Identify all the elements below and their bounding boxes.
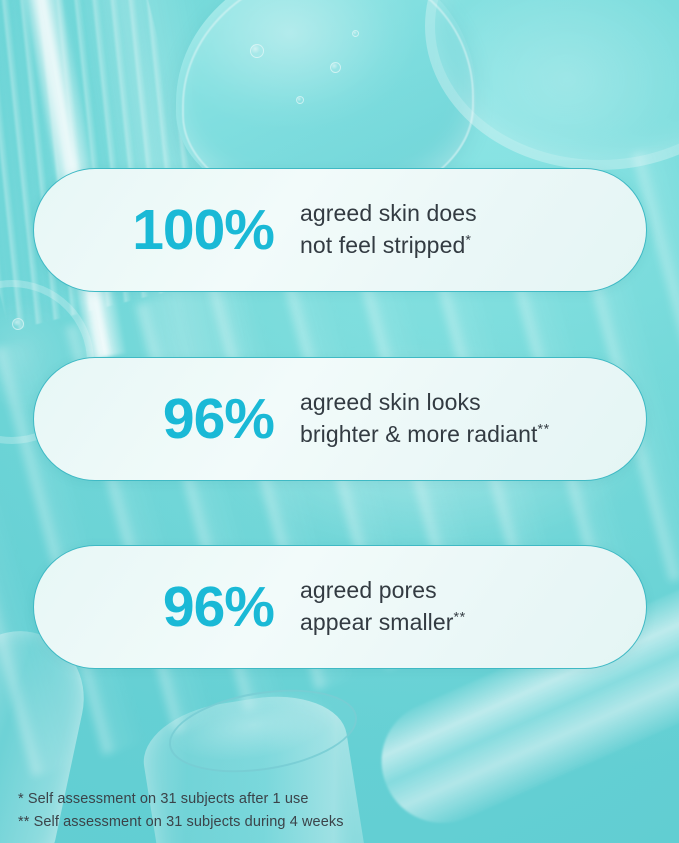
claim-description: agreed skin looks brighter & more radian… xyxy=(300,387,550,450)
footnote-single-asterisk: * Self assessment on 31 subjects after 1… xyxy=(18,788,344,811)
claim-card: 96% agreed skin looks brighter & more ra… xyxy=(33,357,647,481)
claim-percentage: 96% xyxy=(34,579,274,636)
claim-line-2-text: appear smaller xyxy=(300,609,454,635)
claims-list: 100% agreed skin does not feel stripped*… xyxy=(0,0,679,843)
claim-line-1: agreed skin looks xyxy=(300,387,550,419)
claim-percentage: 96% xyxy=(34,391,274,448)
claim-line-2-text: brighter & more radiant xyxy=(300,421,538,447)
claim-line-2: not feel stripped* xyxy=(300,230,477,262)
claim-line-1: agreed pores xyxy=(300,575,466,607)
footnote-marker: ** xyxy=(454,609,466,625)
claim-line-2-text: not feel stripped xyxy=(300,232,465,258)
footnote-marker: ** xyxy=(538,421,550,437)
footnote-marker: * xyxy=(465,232,471,248)
footnote-double-asterisk: ** Self assessment on 31 subjects during… xyxy=(18,811,344,834)
claim-card: 96% agreed pores appear smaller** xyxy=(33,545,647,669)
claim-line-2: appear smaller** xyxy=(300,607,466,639)
claim-description: agreed pores appear smaller** xyxy=(300,575,466,638)
claim-line-2: brighter & more radiant** xyxy=(300,419,550,451)
claim-description: agreed skin does not feel stripped* xyxy=(300,198,477,261)
claim-card: 100% agreed skin does not feel stripped* xyxy=(33,168,647,292)
footnotes: * Self assessment on 31 subjects after 1… xyxy=(18,788,344,835)
claim-percentage: 100% xyxy=(34,202,274,259)
claim-line-1: agreed skin does xyxy=(300,198,477,230)
claims-infographic: 100% agreed skin does not feel stripped*… xyxy=(0,0,679,843)
